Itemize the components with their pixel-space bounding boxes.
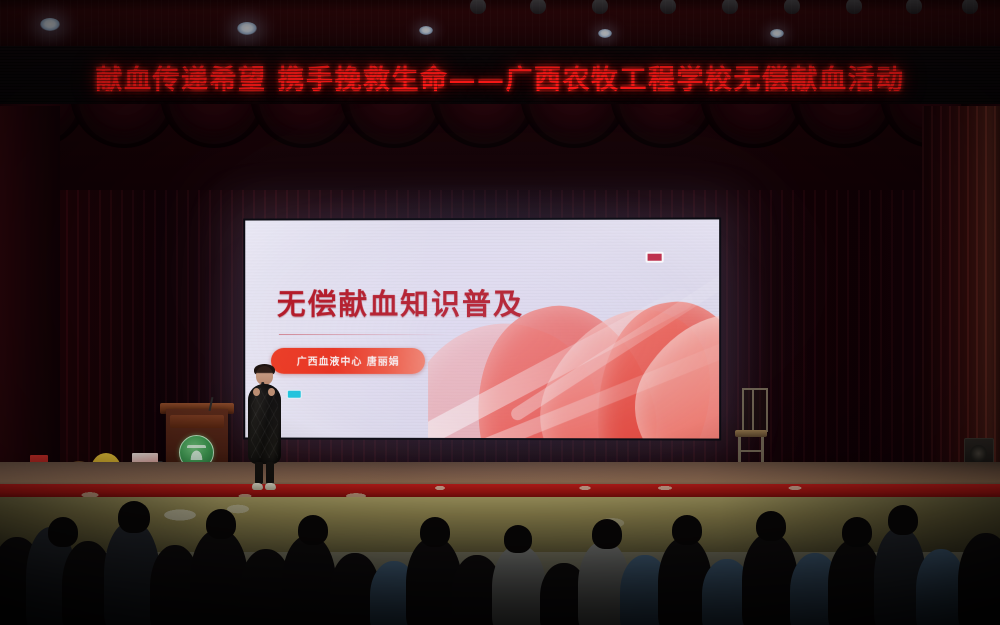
podium-panel bbox=[170, 415, 224, 428]
light-fixture-icon bbox=[660, 0, 676, 14]
audience-head bbox=[888, 505, 918, 535]
audience-head bbox=[206, 509, 236, 539]
wooden-chair bbox=[735, 388, 765, 462]
audience-head bbox=[48, 517, 78, 547]
chair-back bbox=[742, 388, 768, 432]
presenter-shoe bbox=[265, 483, 276, 490]
ceiling-spotlight bbox=[40, 18, 60, 31]
light-fixture-icon bbox=[846, 0, 862, 14]
audience-head bbox=[842, 517, 872, 547]
curtain-valance bbox=[0, 104, 1000, 190]
presenter bbox=[247, 366, 283, 492]
audience-head bbox=[298, 515, 328, 545]
light-fixture-icon bbox=[592, 0, 608, 14]
slide-title: 无偿献血知识普及 bbox=[277, 281, 524, 323]
audience-member bbox=[282, 535, 336, 625]
light-fixture-icon bbox=[784, 0, 800, 14]
slide-speaker-badge: 广西血液中心 唐丽娟 bbox=[271, 348, 426, 374]
led-banner-board: 献血传递希望 携手挽救生命——广西农牧工程学校无偿献血活动 bbox=[0, 46, 1000, 110]
presenter-hand bbox=[268, 388, 275, 396]
audience bbox=[0, 492, 1000, 625]
slide-surface: 无偿献血知识普及 广西血液中心 唐丽娟 bbox=[245, 219, 719, 438]
audience-head bbox=[420, 517, 450, 547]
banner-text: 献血传递希望 携手挽救生命——广西农牧工程学校无偿献血活动 bbox=[0, 58, 1000, 97]
ceiling bbox=[0, 0, 1000, 52]
ceiling-spotlight bbox=[770, 29, 784, 38]
presenter-leg bbox=[255, 462, 263, 484]
audience-head bbox=[118, 501, 150, 533]
auditorium-scene: 献血传递希望 携手挽救生命——广西农牧工程学校无偿献血活动 bbox=[0, 0, 1000, 625]
audience-member bbox=[492, 545, 546, 625]
ceiling-spotlight bbox=[237, 22, 257, 35]
audience-head bbox=[592, 519, 622, 549]
chair-rail bbox=[738, 450, 764, 452]
chair-seat bbox=[735, 430, 767, 437]
light-fixture-icon bbox=[962, 0, 978, 14]
ceiling-spotlight bbox=[419, 26, 433, 35]
audience-head bbox=[756, 511, 786, 541]
audience-head bbox=[504, 525, 532, 553]
curtain-left bbox=[0, 106, 60, 506]
ceiling-spotlight bbox=[598, 29, 612, 38]
presenter-coat bbox=[248, 384, 281, 464]
light-fixture-icon bbox=[470, 0, 486, 14]
presenter-head bbox=[256, 366, 273, 385]
audience-member bbox=[958, 533, 1000, 625]
presenter-shoe bbox=[252, 483, 263, 490]
presenter-leg bbox=[266, 462, 274, 484]
slide-red-marker-icon bbox=[646, 252, 664, 263]
light-fixture-icon bbox=[530, 0, 546, 14]
projection-screen: 无偿献血知识普及 广西血液中心 唐丽娟 bbox=[243, 217, 721, 440]
light-fixture-icon bbox=[722, 0, 738, 14]
light-fixture-icon bbox=[906, 0, 922, 14]
slide-title-rule bbox=[279, 334, 450, 335]
audience-head bbox=[672, 515, 702, 545]
slide-teal-marker-icon bbox=[287, 390, 302, 399]
presenter-hand bbox=[253, 388, 260, 396]
